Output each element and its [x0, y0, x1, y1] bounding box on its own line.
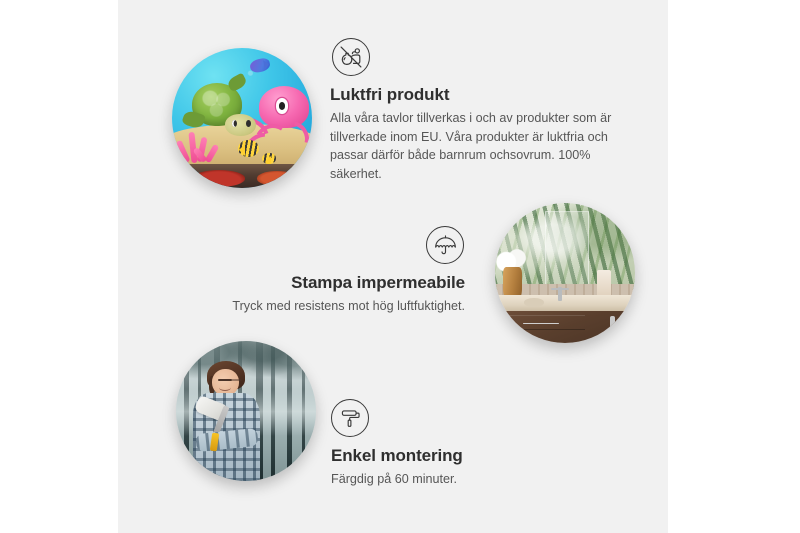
woman-eyes — [218, 379, 232, 381]
vanity-handle — [610, 316, 616, 337]
forest-scene — [176, 341, 316, 481]
sea-scene — [172, 48, 312, 188]
no-odour-spray-bottle-icon — [332, 38, 370, 76]
faucet-icon — [558, 287, 562, 301]
wood-vanity — [501, 311, 635, 343]
product-image-bathroom[interactable] — [495, 203, 635, 343]
product-image-sea[interactable] — [172, 48, 312, 188]
yellow-fish-small — [262, 153, 276, 164]
feature-odourless: Luktfri produkt Alla våra tavlor tillver… — [330, 38, 630, 183]
yellow-fish — [238, 140, 259, 157]
paint-roller-icon — [331, 399, 369, 437]
screenshot-root: Luktfri produkt Alla våra tavlor tillver… — [0, 0, 800, 533]
bathroom-scene — [495, 203, 635, 343]
feature-title: Enkel montering — [331, 446, 611, 466]
feature-waterproof: Stampa impermeabile Tryck med resistens … — [205, 226, 465, 316]
feature-title: Luktfri produkt — [330, 85, 630, 105]
pink-coral — [178, 126, 226, 162]
product-image-forest[interactable] — [176, 341, 316, 481]
vanity-drawer — [506, 315, 584, 330]
umbrella-icon — [426, 226, 464, 264]
feature-assembly: Enkel montering Färgdig på 60 minuter. — [331, 399, 611, 489]
bathroom-mirror — [545, 211, 589, 289]
feature-description: Tryck med resistens mot hög luftfuktighe… — [205, 297, 465, 316]
octopus-eye — [276, 98, 289, 113]
feature-description: Färgdig på 60 minuter. — [331, 470, 611, 489]
stone-countertop — [495, 295, 635, 312]
soap-dish — [524, 298, 544, 306]
woman-face — [212, 369, 239, 396]
feature-description: Alla våra tavlor tillverkas i och av pro… — [330, 109, 630, 183]
turtle-head — [225, 114, 256, 136]
feature-title: Stampa impermeabile — [205, 273, 465, 293]
woman-smile — [219, 384, 230, 391]
sea-foreground-band — [172, 164, 312, 188]
